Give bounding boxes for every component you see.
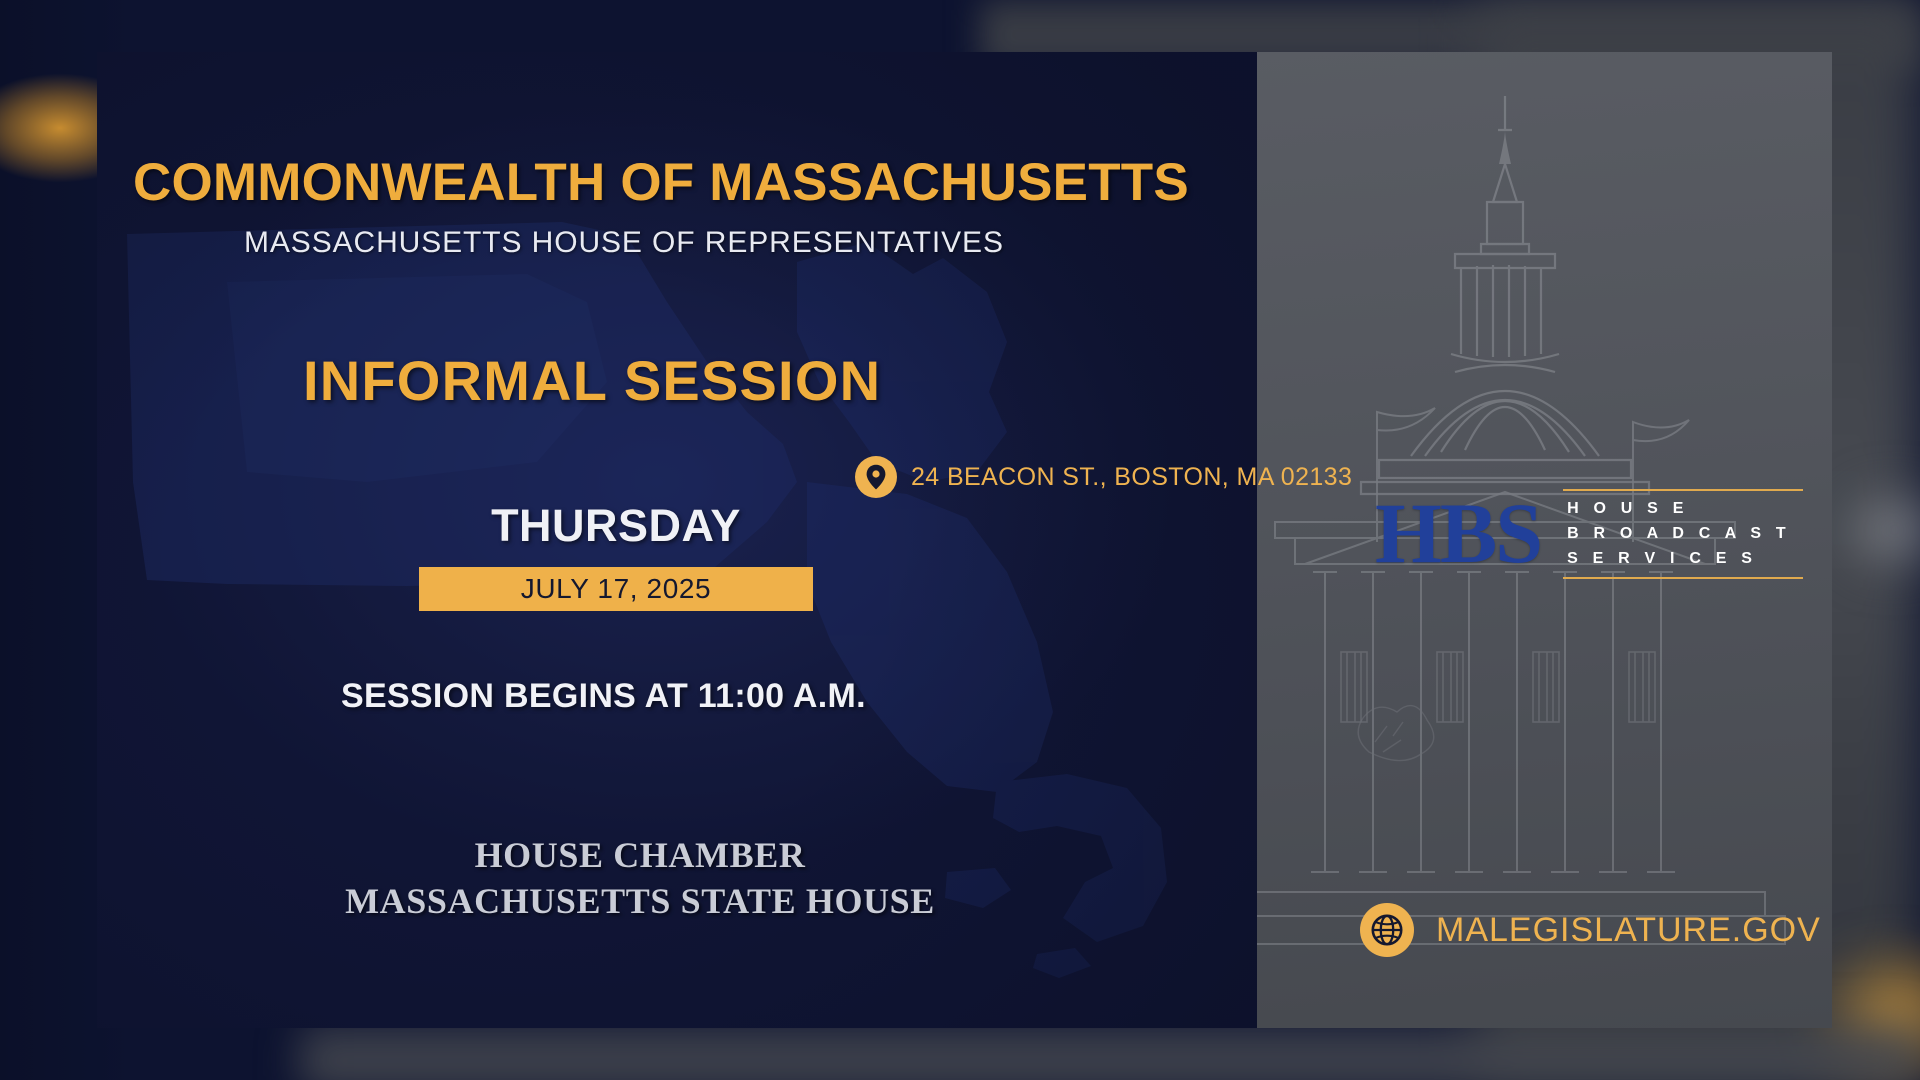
date-badge: JULY 17, 2025 bbox=[419, 567, 813, 611]
venue-line-2: MASSACHUSETTS STATE HOUSE bbox=[110, 878, 1170, 924]
hbs-monogram: HBS bbox=[1375, 490, 1541, 576]
session-type-heading: INFORMAL SESSION bbox=[303, 348, 881, 413]
address-row: 24 BEACON ST., BOSTON, MA 02133 bbox=[855, 456, 1352, 498]
day-of-week: THURSDAY bbox=[466, 500, 766, 552]
website-row: MALEGISLATURE.GOV bbox=[1360, 903, 1821, 957]
slide-content: COMMONWEALTH OF MASSACHUSETTS MASSACHUSE… bbox=[0, 0, 1920, 1080]
globe-icon bbox=[1360, 903, 1414, 957]
page-title: COMMONWEALTH OF MASSACHUSETTS bbox=[133, 152, 1189, 213]
hbs-wordmark: H O U S E B R O A D C A S T S E R V I C … bbox=[1563, 487, 1803, 579]
page-subtitle: MASSACHUSETTS HOUSE OF REPRESENTATIVES bbox=[244, 226, 1004, 260]
venue-line-1: HOUSE CHAMBER bbox=[110, 832, 1170, 878]
website-url: MALEGISLATURE.GOV bbox=[1436, 911, 1821, 950]
address-text: 24 BEACON ST., BOSTON, MA 02133 bbox=[911, 463, 1352, 492]
venue-block: HOUSE CHAMBER MASSACHUSETTS STATE HOUSE bbox=[110, 832, 1170, 924]
hbs-logo: HBS H O U S E B R O A D C A S T S E R V … bbox=[1375, 487, 1803, 579]
hbs-word-line-1: H O U S E bbox=[1567, 500, 1803, 518]
session-start-time: SESSION BEGINS AT 11:00 A.M. bbox=[341, 677, 866, 716]
location-pin-icon bbox=[855, 456, 897, 498]
hbs-rule-bottom bbox=[1563, 577, 1803, 579]
hbs-word-line-3: S E R V I C E S bbox=[1567, 550, 1803, 568]
broadcast-slide: COMMONWEALTH OF MASSACHUSETTS MASSACHUSE… bbox=[0, 0, 1920, 1080]
hbs-word-line-2: B R O A D C A S T bbox=[1567, 525, 1803, 543]
date-text: JULY 17, 2025 bbox=[521, 573, 711, 605]
